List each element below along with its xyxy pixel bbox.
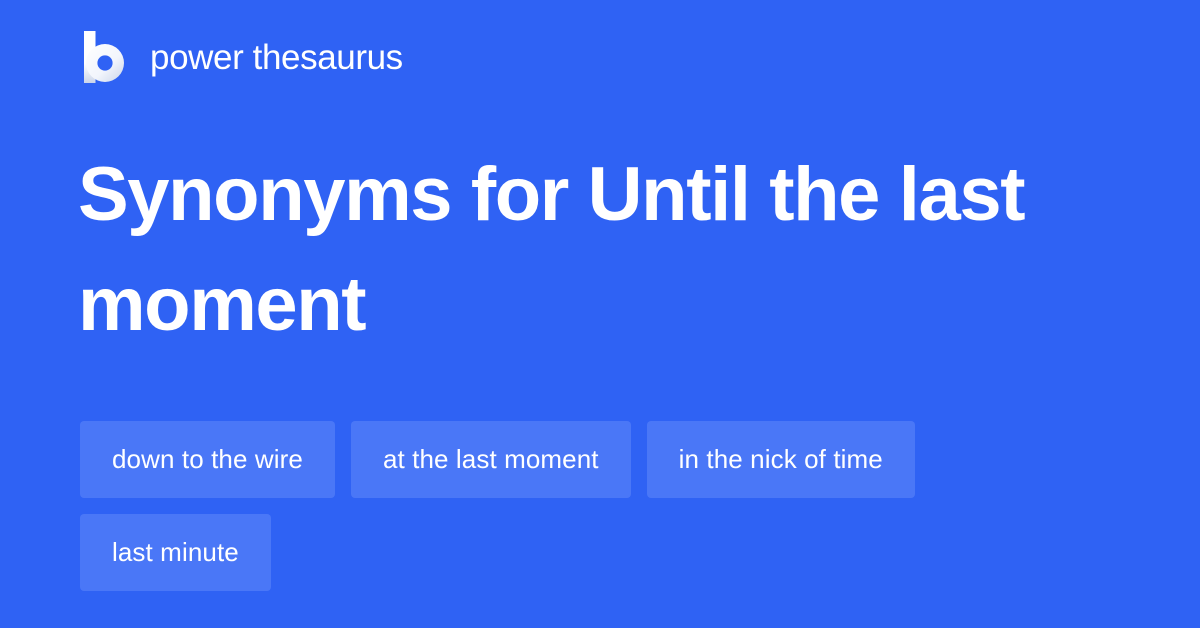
synonym-chip-list: down to the wire at the last moment in t… (80, 421, 1120, 591)
synonym-chip[interactable]: at the last moment (351, 421, 631, 498)
synonym-chip[interactable]: down to the wire (80, 421, 335, 498)
brand-header[interactable]: power thesaurus (80, 27, 403, 87)
power-thesaurus-b-logo-icon (80, 31, 128, 83)
synonym-chip[interactable]: last minute (80, 514, 271, 591)
page-title: Synonyms for Until the last moment (78, 140, 1078, 360)
social-share-card: power thesaurus Synonyms for Until the l… (0, 0, 1200, 628)
synonym-chip[interactable]: in the nick of time (647, 421, 915, 498)
brand-name: power thesaurus (150, 40, 403, 75)
